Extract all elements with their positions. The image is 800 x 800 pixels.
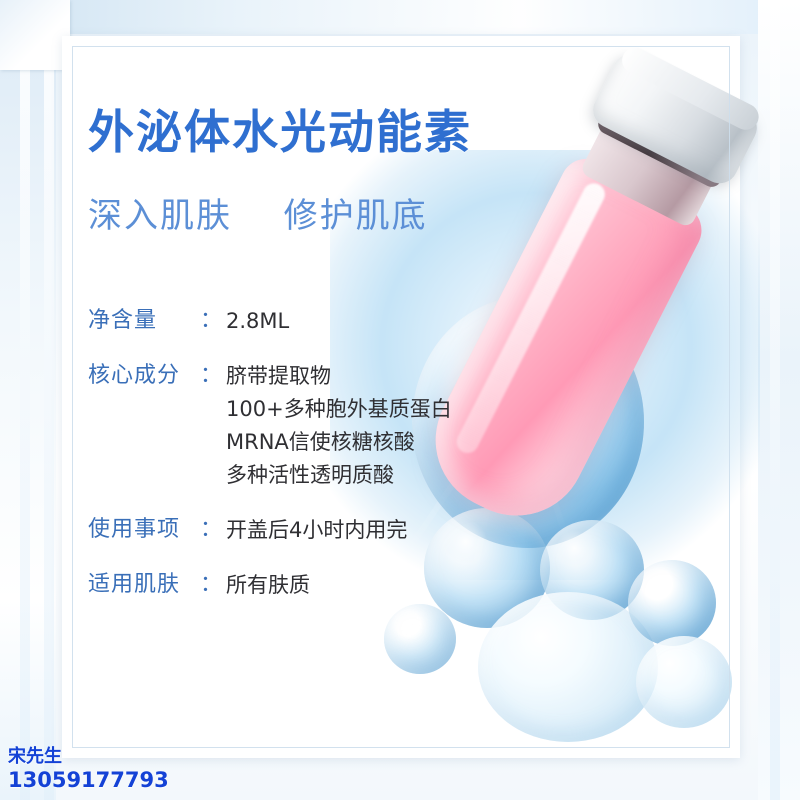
spec-value-line: MRNA信使核糖核酸 <box>226 426 452 459</box>
spec-row: 净含量 ： 2.8ML <box>88 305 508 338</box>
spec-label-core-ingredients: 核心成分 <box>88 360 200 392</box>
spec-list: 净含量 ： 2.8ML 核心成分 ： 脐带提取物 100+多种胞外基质蛋白 MR… <box>88 305 508 624</box>
watermark-name: 宋先生 <box>8 747 169 768</box>
background-top-band <box>0 0 800 34</box>
spec-value-line: 多种活性透明质酸 <box>226 459 452 492</box>
spec-colon: ： <box>200 305 222 337</box>
spec-row: 适用肌肤 ： 所有肤质 <box>88 569 508 602</box>
subtitle-right: 修护肌底 <box>284 196 428 236</box>
spec-row: 核心成分 ： 脐带提取物 100+多种胞外基质蛋白 MRNA信使核糖核酸 多种活… <box>88 360 508 492</box>
background-vertical-line-2 <box>44 0 54 800</box>
spec-value-line: 2.8ML <box>226 305 289 338</box>
spec-value-line: 开盖后4小时内用完 <box>226 514 407 547</box>
spec-colon: ： <box>200 569 222 601</box>
spec-value-usage-notes: 开盖后4小时内用完 <box>226 514 407 547</box>
page-title: 外泌体水光动能素 <box>88 96 472 162</box>
spec-label-usage-notes: 使用事项 <box>88 514 200 546</box>
corner-fold-decoration <box>0 0 70 70</box>
spec-value-skin-type: 所有肤质 <box>226 569 310 602</box>
spec-colon: ： <box>200 514 222 546</box>
product-image: 外泌体水光动能素 深入肌肤 修护肌底 净含量 ： 2.8ML 核心成分 ： 脐带… <box>0 0 800 800</box>
spec-row: 使用事项 ： 开盖后4小时内用完 <box>88 514 508 547</box>
water-bubble-5 <box>628 560 716 646</box>
spec-label-net-content: 净含量 <box>88 305 200 337</box>
water-bubble-6 <box>636 636 732 728</box>
watermark-phone: 13059177793 <box>8 768 169 792</box>
spec-colon: ： <box>200 360 222 392</box>
spec-label-skin-type: 适用肌肤 <box>88 569 200 601</box>
spec-value-net-content: 2.8ML <box>226 305 289 338</box>
spec-value-core-ingredients: 脐带提取物 100+多种胞外基质蛋白 MRNA信使核糖核酸 多种活性透明质酸 <box>226 360 452 492</box>
spec-value-line: 脐带提取物 <box>226 360 452 393</box>
watermark: 宋先生 13059177793 <box>8 747 169 792</box>
background-vertical-line-1 <box>20 0 30 800</box>
spec-value-line: 所有肤质 <box>226 569 310 602</box>
subtitle-left: 深入肌肤 <box>88 196 232 236</box>
spec-value-line: 100+多种胞外基质蛋白 <box>226 393 452 426</box>
page-subtitle: 深入肌肤 修护肌底 <box>88 188 428 237</box>
